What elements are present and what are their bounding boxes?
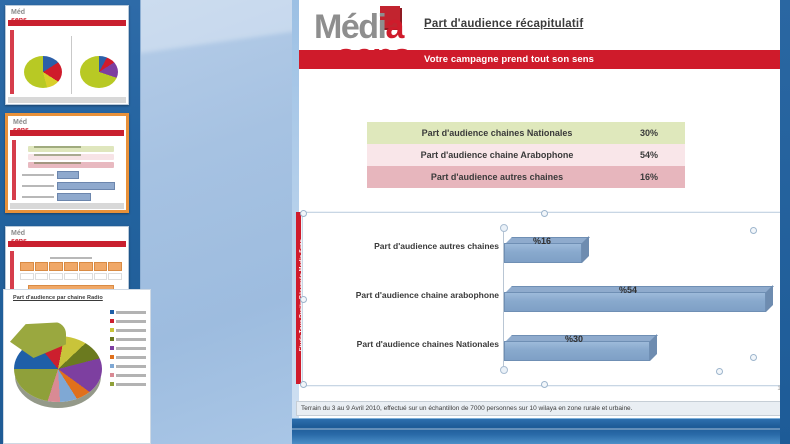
- thumb1-header: Médsens: [6, 6, 128, 32]
- thumb2-summary-table: [28, 146, 114, 168]
- thumb2-bar-label: [22, 185, 54, 187]
- thumb3-cell: [79, 262, 93, 271]
- table-cell-label: Part d'audience chaine Arabophone: [367, 150, 613, 160]
- plot-handle-top-right[interactable]: [750, 227, 757, 234]
- page-title: Part d'audience récapitulatif: [424, 18, 583, 30]
- bar-side-face: [766, 285, 773, 312]
- table-cell-value: 54%: [613, 150, 685, 160]
- bar-front-face: [504, 292, 766, 312]
- bar-chart-plot-area: Part d'audience autres chaines %16 Part …: [303, 213, 785, 385]
- legend-item: [110, 373, 146, 377]
- thumb2-bar-row: [22, 182, 122, 190]
- resize-handle-top-center[interactable]: [541, 210, 548, 217]
- tagline-band: Votre campagne prend tout son sens: [299, 50, 790, 69]
- thumb2-header: Médsens: [8, 116, 126, 142]
- pie-chart-plot: [6, 312, 112, 432]
- thumb1-left-title: [18, 34, 69, 41]
- thumb2-body: [20, 144, 122, 202]
- bar-front-face: [504, 243, 582, 263]
- thumb1-body: [18, 34, 124, 96]
- bar-value-label: %30: [565, 334, 583, 344]
- bar-side-face: [582, 236, 589, 263]
- thumb1-right-title: [73, 34, 124, 41]
- bar-category-label: Part d'audience chaine arabophone: [356, 290, 499, 300]
- legend-swatch: [110, 346, 114, 350]
- legend-label: [116, 356, 146, 359]
- thumb2-bar: [57, 182, 115, 190]
- slide-thumbnail-1[interactable]: Médsens: [5, 5, 129, 105]
- table-cell-value: 30%: [613, 128, 685, 138]
- resize-handle-middle-left[interactable]: [300, 296, 307, 303]
- resize-handle-top-left[interactable]: [300, 210, 307, 217]
- legend-item: [110, 382, 146, 386]
- table-cell-value: 16%: [613, 172, 685, 182]
- thumb1-right-column: [73, 34, 124, 96]
- bar-value-label: %16: [533, 236, 551, 246]
- pane-gloss-highlight: [140, 0, 294, 54]
- thumb3-red-band: [8, 241, 126, 247]
- legend-label: [116, 365, 146, 368]
- bar-row-chaine-arabophone: Part d'audience chaine arabophone %54: [303, 274, 785, 320]
- legend-swatch: [110, 337, 114, 341]
- thumb1-side-label: [10, 30, 14, 94]
- bar-category-label: Part d'audience autres chaines: [374, 241, 499, 251]
- editor-background-pane: [140, 0, 294, 444]
- pie-chart-slide-object[interactable]: Part d'audience par chaine Radio: [3, 289, 151, 444]
- bar-category-label: Part d'audience chaines Nationales: [357, 339, 499, 349]
- thumb3-cell: [94, 262, 108, 271]
- thumb3-cell: [79, 273, 93, 280]
- legend-swatch: [110, 328, 114, 332]
- thumb3-cell: [20, 273, 34, 280]
- legend-label: [116, 347, 146, 350]
- thumb3-value-cells: [20, 273, 122, 280]
- legend-label: [116, 329, 146, 332]
- thumb1-pie-chart-left: [24, 56, 62, 88]
- thumb3-cell: [35, 273, 49, 280]
- thumb3-cell: [108, 262, 122, 271]
- thumb2-bar-row: [22, 193, 122, 201]
- thumb2-footnote: [10, 203, 124, 209]
- bar-value-label: %54: [619, 285, 637, 295]
- table-cell-label: Part d'audience chaines Nationales: [367, 128, 613, 138]
- thumb1-red-band: [8, 20, 126, 26]
- table-row: Part d'audience autres chaines 16%: [367, 166, 685, 188]
- resize-handle-bottom-center[interactable]: [541, 381, 548, 388]
- thumb3-cell: [20, 262, 34, 271]
- thumb1-divider: [71, 36, 72, 94]
- thumb2-bar-label: [22, 196, 54, 198]
- bar-front-face: [504, 341, 650, 361]
- table-row: Part d'audience chaines Nationales 30%: [367, 122, 685, 144]
- legend-swatch: [110, 310, 114, 314]
- thumb2-table-row: [28, 146, 114, 152]
- thumb3-cell: [49, 273, 63, 280]
- table-row: Part d'audience chaine Arabophone 54%: [367, 144, 685, 166]
- right-edge-bar: [780, 0, 790, 444]
- thumb2-table-row: [28, 162, 114, 168]
- legend-label: [116, 383, 146, 386]
- legend-label: [116, 320, 146, 323]
- legend-label: [116, 311, 146, 314]
- thumb3-cell: [94, 273, 108, 280]
- legend-swatch: [110, 355, 114, 359]
- pie-chart-legend: [110, 310, 146, 391]
- application-window: Médsens Médsens: [0, 0, 790, 444]
- plot-handle-bottom-inner[interactable]: [716, 368, 723, 375]
- thumb3-header-cells: [20, 262, 122, 271]
- bottom-status-bar[interactable]: [292, 418, 790, 444]
- bar-chart-object[interactable]: Part d'audience autres chaines %16 Part …: [302, 212, 786, 386]
- main-slide[interactable]: Média sens Part d'audience récapitulatif…: [292, 0, 790, 418]
- media-sens-logo: Média sens: [314, 6, 422, 90]
- legend-label: [116, 338, 146, 341]
- thumb3-header: Médsens: [6, 227, 128, 253]
- bar-row-autres-chaines: Part d'audience autres chaines %16: [303, 225, 785, 271]
- thumb2-bar-row: [22, 171, 122, 179]
- resize-handle-bottom-left[interactable]: [300, 381, 307, 388]
- legend-swatch: [110, 364, 114, 368]
- tagline-text: Votre campagne prend tout son sens: [424, 54, 594, 65]
- plot-handle-bottom-right[interactable]: [750, 354, 757, 361]
- thumb3-cell: [49, 262, 63, 271]
- legend-item: [110, 337, 146, 341]
- legend-swatch: [110, 319, 114, 323]
- legend-item: [110, 328, 146, 332]
- legend-swatch: [110, 373, 114, 377]
- slide-thumbnail-2[interactable]: Médsens: [5, 113, 129, 213]
- thumb3-title: [50, 257, 92, 259]
- thumb2-bar-label: [22, 174, 54, 176]
- thumb2-table-row: [28, 154, 114, 160]
- thumb2-side-label: [12, 140, 16, 200]
- table-cell-label: Part d'audience autres chaines: [367, 172, 613, 182]
- thumb3-cell: [35, 262, 49, 271]
- thumb1-left-column: [18, 34, 69, 96]
- thumb3-cell: [64, 262, 78, 271]
- summary-table: Part d'audience chaines Nationales 30% P…: [367, 122, 685, 188]
- bar-row-chaines-nationales: Part d'audience chaines Nationales %30: [303, 323, 785, 369]
- legend-item: [110, 355, 146, 359]
- thumb2-bar: [57, 171, 79, 179]
- legend-item: [110, 364, 146, 368]
- legend-label: [116, 374, 146, 377]
- thumb3-cell: [64, 273, 78, 280]
- legend-item: [110, 310, 146, 314]
- thumb2-bar: [57, 193, 91, 201]
- legend-swatch: [110, 382, 114, 386]
- bar-side-face: [650, 334, 657, 361]
- legend-item: [110, 319, 146, 323]
- pie-chart-title: Part d'audience par chaine Radio: [4, 290, 150, 301]
- status-bar-highlight: [292, 428, 790, 430]
- thumb3-cell: [108, 273, 122, 280]
- thumb2-red-band: [10, 130, 124, 136]
- thumb1-pie-chart-right: [80, 56, 118, 88]
- thumb1-footnote: [8, 97, 126, 103]
- slide-footnote: Terrain du 3 au 9 Avril 2010, effectué s…: [296, 401, 786, 416]
- legend-item: [110, 346, 146, 350]
